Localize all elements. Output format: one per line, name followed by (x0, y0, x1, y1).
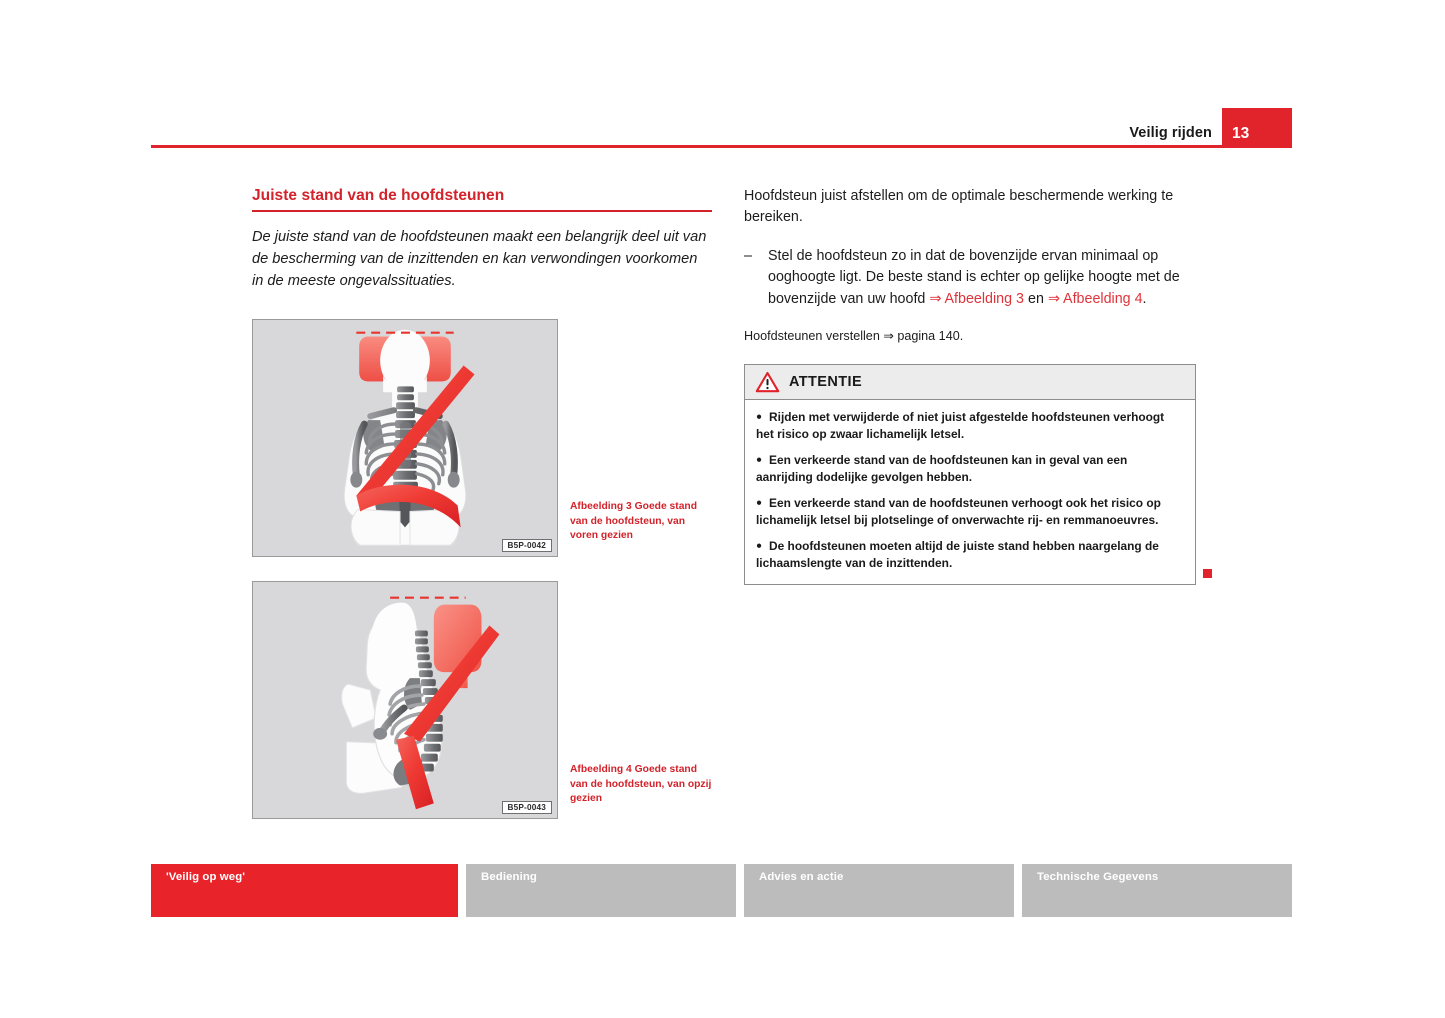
footer-tab-advies-en-actie[interactable]: Advies en actie (744, 864, 1014, 917)
cross-reference-note: Hoofdsteunen verstellen ⇒ pagina 140. (744, 327, 1196, 345)
footer-tab-label: Bediening (481, 871, 537, 883)
right-column: Hoofdsteun juist afstellen om de optimal… (744, 186, 1196, 585)
left-column: Juiste stand van de hoofdsteunen De juis… (252, 186, 712, 292)
warning-text: Rijden met verwijderde of niet juist afg… (756, 410, 1164, 441)
lead-paragraph: De juiste stand van de hoofdsteunen maak… (252, 226, 712, 293)
dash-marker: – (744, 246, 768, 310)
warning-text: Een verkeerde stand van de hoofdsteunen … (756, 496, 1161, 527)
warning-text: Een verkeerde stand van de hoofdsteunen … (756, 453, 1127, 484)
header-rule (151, 145, 1223, 148)
footer-tab-bediening[interactable]: Bediening (466, 864, 736, 917)
dash-connector: en (1024, 291, 1048, 307)
page-number: 13 (1232, 125, 1249, 143)
attentie-warning-box: ATTENTIE ●Rijden met verwijderde of niet… (744, 364, 1196, 584)
footer-tab-label: Technische Gegevens (1037, 871, 1158, 883)
skeleton-front-view-headrest-illustration (253, 320, 557, 556)
footer-tab-veilig-op-weg[interactable]: 'Veilig op weg' (151, 864, 458, 917)
bullet-glyph: ● (756, 498, 762, 509)
dash-list-item: – Stel de hoofdsteun zo in dat de bovenz… (744, 246, 1196, 310)
section-heading: Juiste stand van de hoofdsteunen (252, 186, 712, 205)
footer-tab-technische-gegevens[interactable]: Technische Gegevens (1022, 864, 1292, 917)
figure-code: B5P-0042 (502, 539, 552, 552)
warning-list-item: ●Een verkeerde stand van de hoofdsteunen… (756, 495, 1184, 529)
figure-side-view: B5P-0043 (252, 581, 558, 819)
figure-caption-4: Afbeelding 4 Goede stand van de hoofdste… (570, 763, 715, 807)
dash-text-after: . (1143, 291, 1147, 307)
skeleton-side-view-headrest-illustration (253, 582, 557, 818)
warning-triangle-icon (755, 371, 780, 393)
warning-text: De hoofdsteunen moeten altijd de juiste … (756, 539, 1159, 570)
warning-list-item: ●De hoofdsteunen moeten altijd de juiste… (756, 538, 1184, 572)
footer-tab-label: 'Veilig op weg' (166, 871, 245, 883)
bullet-glyph: ● (756, 455, 762, 466)
footer-tab-label: Advies en actie (759, 871, 843, 883)
page-number-box: 13 (1222, 108, 1292, 148)
figure-caption-3: Afbeelding 3 Goede stand van de hoofdste… (570, 500, 715, 544)
dash-item-text: Stel de hoofdsteun zo in dat de bovenzij… (768, 246, 1196, 310)
attentie-body: ●Rijden met verwijderde of niet juist af… (745, 400, 1195, 583)
warning-list-item: ●Een verkeerde stand van de hoofdsteunen… (756, 452, 1184, 486)
attentie-title: ATTENTIE (789, 374, 862, 390)
section-end-marker (1203, 569, 1212, 578)
bullet-glyph: ● (756, 540, 762, 551)
xref-afbeelding-4[interactable]: ⇒ Afbeelding 4 (1048, 291, 1143, 307)
intro-paragraph: Hoofdsteun juist afstellen om de optimal… (744, 186, 1196, 229)
figure-code: B5P-0043 (502, 801, 552, 814)
bullet-glyph: ● (756, 412, 762, 423)
attentie-header: ATTENTIE (745, 365, 1195, 400)
page-header: Veilig rijden 13 (151, 104, 1292, 148)
figure-front-view: B5P-0042 (252, 319, 558, 557)
xref-afbeelding-3[interactable]: ⇒ Afbeelding 3 (929, 291, 1024, 307)
page-title: Veilig rijden (1129, 125, 1212, 141)
footer-tab-bar: 'Veilig op weg' Bediening Advies en acti… (151, 864, 1292, 917)
section-heading-rule (252, 210, 712, 212)
warning-list-item: ●Rijden met verwijderde of niet juist af… (756, 409, 1184, 443)
